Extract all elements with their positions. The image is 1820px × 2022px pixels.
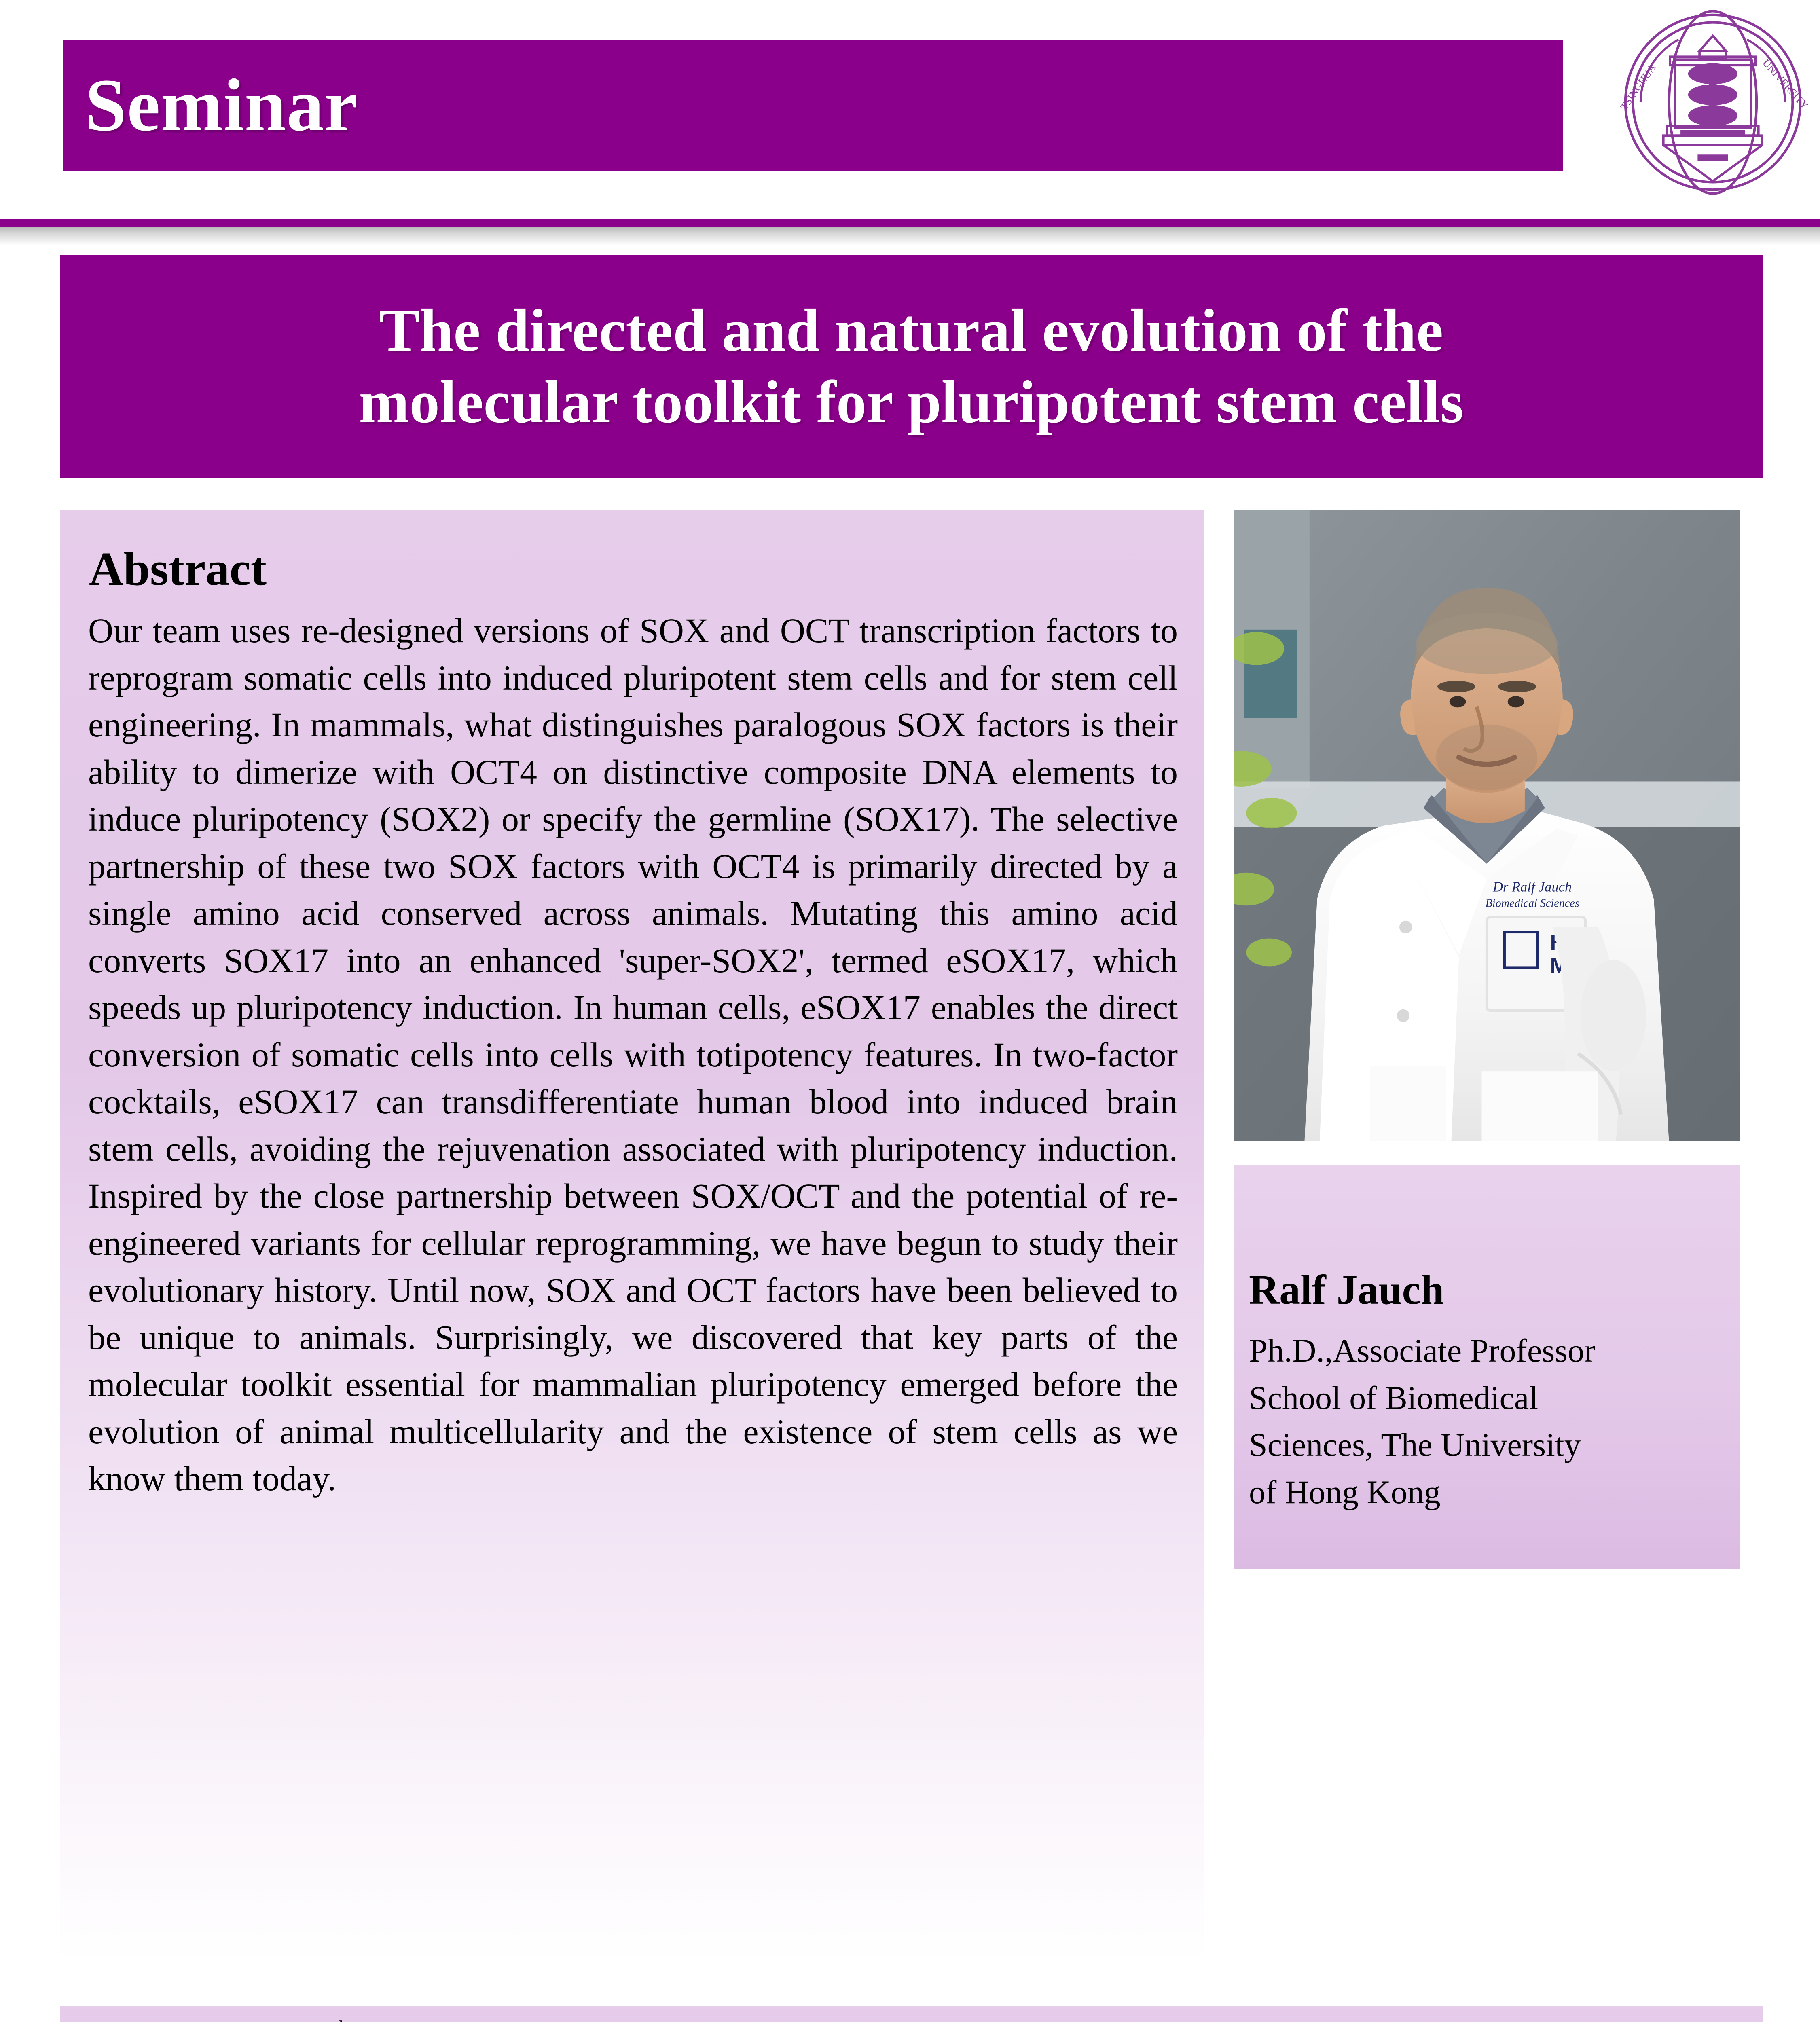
seminar-title-banner: The directed and natural evolution of th…: [60, 255, 1763, 478]
tsinghua-university-seal-icon: TSINGHUA UNIVERSITY: [1618, 7, 1808, 197]
header-divider-shadow: [0, 227, 1820, 245]
time-value-pre: March 20: [179, 2016, 332, 2022]
time-label: Time:: [85, 2016, 179, 2022]
abstract-panel: Abstract Our team uses re-designed versi…: [60, 510, 1204, 1961]
abstract-body-text: Our team uses re-designed versions of SO…: [88, 607, 1178, 1502]
time-value-post: (Wednesday), 2024; 10:30 a.m.-12:00 p.m.: [350, 2016, 998, 2022]
seminar-title-line-2: molecular toolkit for pluripotent stem c…: [359, 366, 1464, 438]
page-title: Seminar: [85, 68, 358, 143]
speaker-affiliation-line-2: School of Biomedical: [1249, 1375, 1724, 1421]
svg-text:TSINGHUA: TSINGHUA: [1618, 62, 1659, 112]
header-divider-line: [0, 219, 1820, 227]
abstract-heading: Abstract: [89, 541, 1180, 596]
time-ordinal-suffix: th: [332, 2016, 350, 2022]
speaker-affiliation-line-4: of Hong Kong: [1249, 1469, 1724, 1516]
speaker-name: Ralf Jauch: [1249, 1268, 1724, 1312]
speaker-affiliation-line-1: Ph.D.,Associate Professor: [1249, 1327, 1724, 1374]
svg-text:Biomedical Sciences: Biomedical Sciences: [1486, 897, 1579, 909]
speaker-info-panel: Ralf Jauch Ph.D.,Associate Professor Sch…: [1234, 1165, 1740, 1569]
seminar-title-line-1: The directed and natural evolution of th…: [379, 295, 1443, 366]
speaker-photo: Dr Ralf Jauch Biomedical Sciences HKU Me…: [1234, 510, 1740, 1141]
event-details-panel: Time: March 20th (Wednesday), 2024; 10:3…: [60, 2006, 1763, 2022]
detail-row-time: Time: March 20th (Wednesday), 2024; 10:3…: [85, 2018, 1763, 2022]
header-banner: Seminar: [63, 40, 1563, 171]
svg-text:Dr Ralf Jauch: Dr Ralf Jauch: [1492, 880, 1572, 895]
speaker-affiliation-line-3: Sciences, The University: [1249, 1421, 1724, 1468]
